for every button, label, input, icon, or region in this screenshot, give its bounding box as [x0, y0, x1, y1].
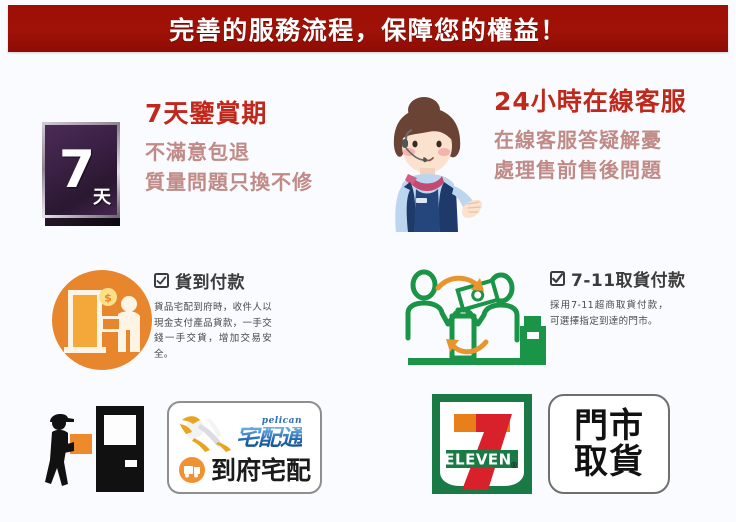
store-pickup-logo-box: 門市 取貨: [548, 394, 670, 494]
header-banner: 完善的服務流程，保障您的權益！: [8, 5, 728, 52]
carriers-row: pelican 宅配通 到府宅配: [0, 392, 736, 502]
banner-title: 完善的服務流程，保障您的權益！: [169, 11, 567, 47]
carrier-seven-eleven: ELEVEN ® 門市 取貨: [432, 394, 670, 494]
cash-on-delivery-door-icon: $: [50, 268, 154, 372]
payment-description: 貨品宅配到府時，收件人以現金支付產品貨款，一手交錢一手交貨，增加交易安全。: [154, 300, 272, 363]
svg-text:$: $: [104, 292, 112, 305]
store-pickup-payment-icon: [400, 266, 550, 376]
badge-unit: 天: [93, 183, 111, 209]
carrier-pelican: pelican 宅配通 到府宅配: [34, 398, 322, 496]
payment-cash-on-delivery: $ 貨到付款 貨品宅配到府時，收件人以現金支付產品貨款，一手: [50, 268, 272, 372]
svg-text:®: ®: [510, 461, 518, 470]
seven-day-badge-icon: 7 天: [42, 122, 120, 222]
payment-heading: 7-11取貨付款: [550, 266, 686, 291]
payments-row: $ 貨到付款 貨品宅配到府時，收件人以現金支付產品貨款，一手: [0, 258, 736, 388]
feature-customer-service: 24小時在線客服 在線客服答疑解憂 處理售前售後問題: [372, 88, 687, 234]
feature-line-2: 質量問題只換不修: [145, 167, 313, 197]
pelican-brand-cn: 宅配通: [236, 427, 302, 450]
feature-texts: 7天鑒賞期 不滿意包退 質量問題只換不修: [145, 100, 313, 197]
payment-heading: 貨到付款: [154, 268, 272, 293]
home-delivery-row: 到府宅配: [176, 457, 313, 483]
home-delivery-icon: [179, 457, 205, 483]
feature-line-2: 處理售前售後問題: [494, 155, 687, 185]
seven-eleven-logo: ELEVEN ®: [432, 394, 532, 494]
payment-head-text: 貨到付款: [175, 268, 245, 293]
checkbox-icon: [154, 273, 169, 288]
pelican-logo-top: pelican 宅配通: [176, 411, 313, 455]
features-row: 7 天 7天鑒賞期 不滿意包退 質量問題只換不修: [0, 80, 736, 230]
payment-body: 貨到付款 貨品宅配到府時，收件人以現金支付產品貨款，一手交錢一手交貨，增加交易安…: [154, 268, 272, 363]
pelican-logo-box: pelican 宅配通 到府宅配: [167, 401, 322, 494]
payment-store-pickup: 7-11取貨付款 採用7-11超商取貨付款，可選擇指定到達的門市。: [400, 266, 686, 376]
payment-head-text: 7-11取貨付款: [571, 266, 686, 291]
pelican-bird-icon: [176, 412, 234, 454]
customer-service-agent-icon: [372, 94, 482, 234]
feature-line-1: 在線客服答疑解憂: [494, 125, 687, 155]
home-delivery-label: 到府宅配: [211, 458, 311, 483]
store-pickup-label-line2: 取貨: [574, 444, 644, 480]
checkbox-checked-icon: [550, 271, 565, 286]
feature-title: 7天鑒賞期: [145, 100, 313, 128]
badge-number: 7: [59, 144, 95, 196]
feature-texts: 24小時在線客服 在線客服答疑解憂 處理售前售後問題: [494, 88, 687, 185]
seven-eleven-wordmark: ELEVEN: [444, 451, 511, 469]
feature-line-1: 不滿意包退: [145, 137, 313, 167]
delivery-person-door-icon: [34, 398, 149, 496]
pelican-wordmark: pelican 宅配通: [236, 417, 302, 450]
store-pickup-label-line1: 門市: [574, 408, 644, 444]
payment-body: 7-11取貨付款 採用7-11超商取貨付款，可選擇指定到達的門市。: [550, 266, 686, 329]
feature-title: 24小時在線客服: [494, 88, 687, 116]
promo-banner-page: 完善的服務流程，保障您的權益！ 7 天 7天鑒賞期 不滿意包退 質量問題只換不修: [0, 0, 736, 522]
feature-seven-day: 7 天 7天鑒賞期 不滿意包退 質量問題只換不修: [42, 100, 313, 222]
payment-description: 採用7-11超商取貨付款，可選擇指定到達的門市。: [550, 298, 668, 329]
